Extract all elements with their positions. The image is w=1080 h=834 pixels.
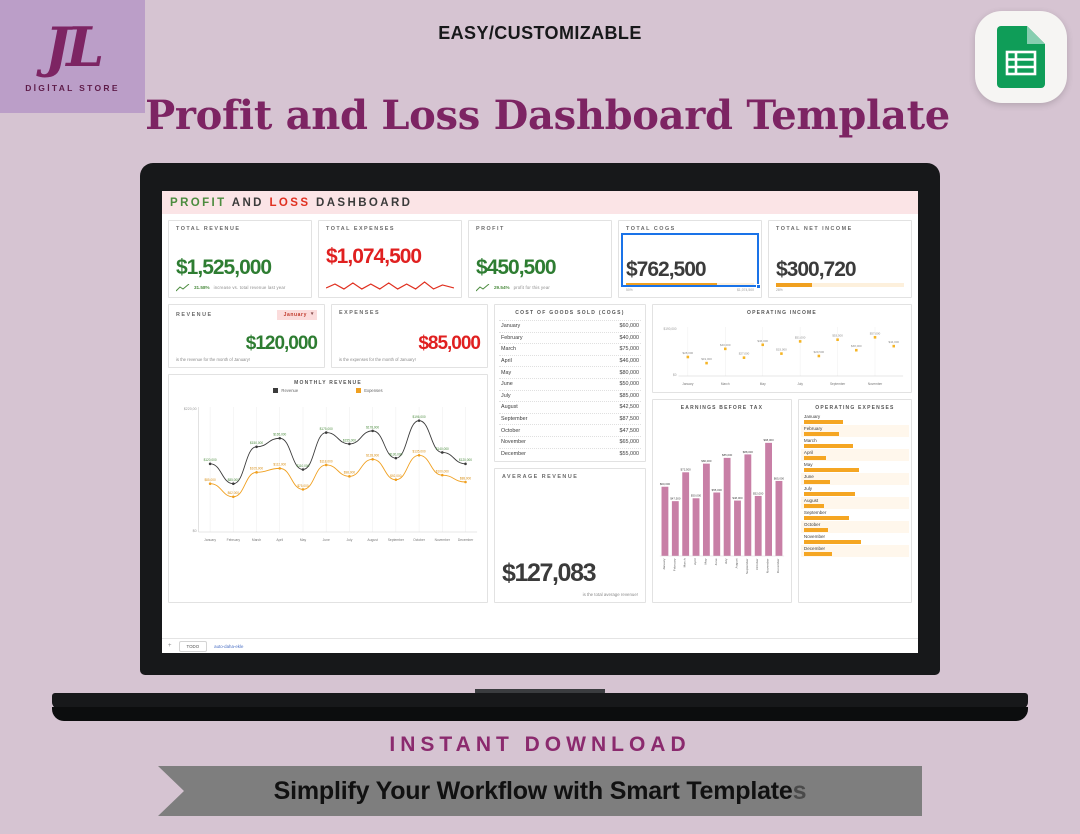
cogs-month: March — [501, 346, 516, 352]
kpi-footer: 31.58% increase vs. total revenue last y… — [176, 283, 304, 292]
cogs-value: $65,000 — [620, 439, 640, 445]
cogs-table-body: January$60,000February$40,000March$75,00… — [499, 320, 641, 459]
google-sheets-icon — [975, 11, 1067, 103]
cogs-month: May — [501, 370, 511, 376]
svg-text:$190,000: $190,000 — [664, 327, 677, 331]
svg-text:September: September — [388, 538, 405, 542]
instant-download-text: INSTANT DOWNLOAD — [0, 733, 1080, 757]
operating-expenses-panel[interactable]: OPERATING EXPENSES JanuaryFebruaryMarchA… — [798, 399, 912, 603]
table-row: May$80,000 — [499, 366, 641, 378]
svg-text:$178,000: $178,000 — [366, 425, 379, 429]
svg-text:$0: $0 — [673, 373, 677, 377]
table-row: October$47,500 — [499, 424, 641, 436]
oe-data-bar — [804, 480, 831, 484]
svg-text:$0: $0 — [193, 529, 197, 533]
oe-data-bar — [804, 444, 853, 448]
svg-text:$150,000: $150,000 — [250, 441, 263, 445]
spreadsheet-dashboard: PROFIT AND LOSS DASHBOARD TOTAL REVENUE … — [162, 191, 918, 653]
list-item: December — [801, 545, 909, 557]
svg-text:April: April — [276, 538, 283, 542]
expenses-card-header: EXPENSES — [339, 310, 480, 316]
oe-data-bar — [804, 456, 826, 460]
kpi-value: $762,500 — [626, 259, 754, 280]
kpi-card-profit[interactable]: PROFIT $450,500 29.54% profit for this y… — [468, 220, 612, 298]
svg-text:May: May — [760, 382, 766, 386]
table-row: August$42,500 — [499, 401, 641, 413]
chart-earnings-before-tax[interactable]: EARNINGS BEFORE TAX $60,000January$47,50… — [652, 399, 792, 603]
oe-month-label: August — [804, 498, 906, 503]
svg-text:$105,000: $105,000 — [250, 467, 263, 471]
ribbon-text: Simplify Your Workflow with Smart Templa… — [274, 777, 807, 806]
svg-text:January: January — [662, 558, 666, 570]
oe-data-bar — [804, 516, 849, 520]
oe-month-label: March — [804, 438, 906, 443]
svg-text:$29,500: $29,500 — [814, 350, 825, 354]
svg-text:$85,000: $85,000 — [722, 453, 733, 457]
svg-text:$100,000: $100,000 — [436, 470, 449, 474]
svg-text:November: November — [435, 538, 451, 542]
cogs-value: $46,000 — [620, 358, 640, 364]
chart-title: OPERATING INCOME — [657, 307, 907, 318]
oe-data-bar — [804, 504, 824, 508]
svg-text:June: June — [323, 538, 330, 542]
svg-text:February: February — [227, 538, 241, 542]
average-revenue-label: AVERAGE REVENUE — [502, 474, 638, 480]
table-row: June$50,000 — [499, 378, 641, 390]
svg-text:$155,000: $155,000 — [343, 438, 356, 442]
revenue-card-header: REVENUE January — [176, 310, 317, 320]
svg-text:August: August — [367, 538, 377, 542]
svg-text:$38,000: $38,000 — [851, 344, 862, 348]
svg-text:$44,000: $44,000 — [888, 340, 899, 344]
kpi-progress-labels: 50% $1,074,500 — [626, 288, 754, 292]
kpi-note: increase vs. total revenue last year — [214, 285, 286, 290]
cogs-month: December — [501, 451, 526, 457]
svg-text:$175,000: $175,000 — [320, 427, 333, 431]
tagline: EASY/CUSTOMIZABLE — [0, 23, 1080, 44]
chart-title: OPERATING EXPENSES — [801, 402, 909, 413]
oe-month-label: July — [804, 486, 906, 491]
revenue-value: $120,000 — [176, 334, 317, 353]
expenses-card-label: EXPENSES — [339, 310, 380, 316]
kpi-card-total-cogs[interactable]: TOTAL COGS $762,500 50% $1,074,500 — [618, 220, 762, 298]
svg-text:March: March — [721, 382, 730, 386]
svg-text:$118,000: $118,000 — [320, 459, 333, 463]
svg-text:July: July — [724, 558, 728, 564]
svg-text:October: October — [755, 559, 759, 570]
svg-text:$140,000: $140,000 — [436, 447, 449, 451]
svg-text:$220,00: $220,00 — [184, 407, 197, 411]
list-item: February — [801, 425, 909, 437]
laptop-mockup: PROFIT AND LOSS DASHBOARD TOTAL REVENUE … — [140, 163, 940, 675]
svg-text:$120,000: $120,000 — [459, 458, 472, 462]
svg-text:$57,000: $57,000 — [870, 331, 881, 335]
progress-right-label: $1,074,500 — [737, 288, 754, 292]
svg-text:$55,000: $55,000 — [712, 488, 723, 492]
svg-text:$112,000: $112,000 — [273, 463, 286, 467]
svg-text:March: March — [683, 558, 687, 567]
svg-text:$72,500: $72,500 — [681, 468, 692, 472]
list-item: January — [801, 413, 909, 425]
svg-text:$128,000: $128,000 — [366, 454, 379, 458]
progress-left-label: 50% — [626, 288, 633, 292]
table-row: March$75,000 — [499, 343, 641, 355]
table-row: December$55,000 — [499, 448, 641, 460]
svg-text:$92,000: $92,000 — [390, 474, 402, 478]
title-word-dashboard: DASHBOARD — [316, 197, 412, 209]
list-item: April — [801, 449, 909, 461]
average-revenue-note: is the total average revenue! — [502, 592, 638, 597]
list-item: March — [801, 437, 909, 449]
month-dropdown[interactable]: January — [277, 310, 317, 320]
kpi-label: TOTAL COGS — [626, 226, 754, 232]
kpi-note: profit for this year — [514, 285, 550, 290]
svg-text:September: September — [830, 382, 845, 386]
revenue-month-card[interactable]: REVENUE January $120,000 is the revenue … — [168, 304, 325, 368]
oe-month-label: June — [804, 474, 906, 479]
progress-left-label: 28% — [776, 288, 783, 292]
svg-text:$130,000: $130,000 — [389, 453, 402, 457]
kpi-progress-labels: 28% — [776, 288, 904, 292]
oe-month-label: January — [804, 414, 906, 419]
expenses-month-card[interactable]: EXPENSES $85,000 is the expenses for the… — [331, 304, 488, 368]
dashboard-title: PROFIT AND LOSS DASHBOARD — [162, 191, 918, 214]
cogs-table-title: COST OF GOODS SOLD (COGS) — [499, 307, 641, 320]
kpi-label: TOTAL NET INCOME — [776, 226, 904, 232]
kpi-value: $450,500 — [476, 257, 604, 278]
bottom-right-row: EARNINGS BEFORE TAX $60,000January$47,50… — [652, 399, 912, 603]
laptop-screen: PROFIT AND LOSS DASHBOARD TOTAL REVENUE … — [162, 191, 918, 653]
sparkline-up-icon — [176, 284, 190, 292]
kpi-percent: 29.54% — [494, 285, 510, 290]
svg-text:June: June — [714, 558, 718, 565]
list-item: July — [801, 485, 909, 497]
cogs-value: $42,500 — [620, 404, 640, 410]
list-item: May — [801, 461, 909, 473]
svg-text:$27,000: $27,000 — [739, 352, 750, 356]
svg-text:$85,000: $85,000 — [228, 478, 240, 482]
sheet-link[interactable]: auto-daha-ekle — [214, 644, 243, 649]
oe-month-label: December — [804, 546, 906, 551]
svg-text:$52,000: $52,000 — [753, 491, 764, 495]
svg-text:$120,000: $120,000 — [204, 458, 217, 462]
oe-data-bar — [804, 432, 839, 436]
kpi-label: TOTAL EXPENSES — [326, 226, 454, 232]
expenses-value: $85,000 — [339, 334, 480, 353]
kpi-progress-fill — [776, 283, 812, 287]
svg-text:$48,000: $48,000 — [732, 496, 743, 500]
svg-text:March: March — [252, 538, 261, 542]
average-revenue-card[interactable]: AVERAGE REVENUE $127,083 is the total av… — [494, 468, 646, 603]
svg-text:December: December — [458, 538, 474, 542]
ribbon-tail: s — [793, 777, 807, 805]
oe-month-label: November — [804, 534, 906, 539]
svg-text:$46,000: $46,000 — [757, 339, 768, 343]
kpi-label: TOTAL REVENUE — [176, 226, 304, 232]
svg-text:January: January — [682, 382, 694, 386]
chart-operating-income[interactable]: OPERATING INCOME $190,000$0$28,000$19,00… — [652, 304, 912, 393]
oe-data-bar — [804, 552, 833, 556]
cogs-value: $87,500 — [620, 416, 640, 422]
oe-data-bar — [804, 492, 855, 496]
cogs-value: $47,500 — [620, 428, 640, 434]
oe-data-bar — [804, 528, 829, 532]
kpi-value: $1,525,000 — [176, 257, 304, 278]
add-sheet-icon[interactable]: + — [168, 643, 172, 649]
laptop-base-lip — [52, 707, 1028, 721]
chart-title: EARNINGS BEFORE TAX — [656, 402, 788, 413]
svg-text:May: May — [300, 538, 307, 542]
page-title: Profit and Loss Dashboard Template — [145, 92, 950, 139]
svg-text:July: July — [346, 538, 352, 542]
svg-text:$110,000: $110,000 — [297, 464, 310, 468]
laptop-lid: PROFIT AND LOSS DASHBOARD TOTAL REVENUE … — [140, 163, 940, 675]
oe-month-label: October — [804, 522, 906, 527]
svg-text:$196,000: $196,000 — [413, 415, 426, 419]
kpi-progress-track — [776, 283, 904, 287]
svg-text:January: January — [204, 538, 216, 542]
chart-title: MONTHLY REVENUE — [173, 377, 483, 388]
table-row: January$60,000 — [499, 320, 641, 332]
cogs-value: $40,000 — [620, 335, 640, 341]
cogs-value: $75,000 — [620, 346, 640, 352]
svg-text:$88,000: $88,000 — [743, 450, 754, 454]
cogs-month: November — [501, 439, 526, 445]
oe-month-label: February — [804, 426, 906, 431]
svg-text:September: September — [745, 559, 749, 575]
table-row: February$40,000 — [499, 332, 641, 344]
cogs-table[interactable]: COST OF GOODS SOLD (COGS) January$60,000… — [494, 304, 646, 462]
brand-logo: JL DİGİTAL STORE — [0, 0, 145, 113]
monthly-revenue-plot: $220,00$0$120,000$85,000$150,000$165,000… — [173, 393, 483, 548]
operating-expenses-list: JanuaryFebruaryMarchAprilMayJuneJulyAugu… — [801, 413, 909, 557]
title-word-loss: LOSS — [269, 197, 310, 209]
cogs-value: $85,000 — [620, 393, 640, 399]
month-card-row: REVENUE January $120,000 is the revenue … — [168, 304, 488, 368]
cogs-month: October — [501, 428, 520, 434]
left-column: REVENUE January $120,000 is the revenue … — [168, 304, 488, 603]
svg-text:$62,000: $62,000 — [228, 491, 240, 495]
cogs-value: $60,000 — [620, 323, 640, 329]
svg-text:$75,000: $75,000 — [297, 484, 309, 488]
oe-data-bar — [804, 420, 843, 424]
sheet-tab-bar: + TODO auto-daha-ekle — [162, 638, 918, 653]
revenue-card-label: REVENUE — [176, 312, 213, 318]
footer-ribbon: Simplify Your Workflow with Smart Templa… — [158, 766, 922, 816]
kpi-row: TOTAL REVENUE $1,525,000 31.58% increase… — [168, 220, 912, 298]
table-row: April$46,000 — [499, 355, 641, 367]
cogs-month: July — [501, 393, 511, 399]
logo-subtitle: DİGİTAL STORE — [25, 83, 120, 93]
list-item: November — [801, 533, 909, 545]
svg-text:$60,000: $60,000 — [660, 482, 671, 486]
svg-text:July: July — [797, 382, 803, 386]
kpi-card-total-net-income[interactable]: TOTAL NET INCOME $300,720 28% — [768, 220, 912, 298]
svg-text:$85,000: $85,000 — [204, 478, 216, 482]
svg-text:$40,000: $40,000 — [720, 343, 731, 347]
list-item: October — [801, 521, 909, 533]
cogs-value: $50,000 — [620, 381, 640, 387]
svg-text:$53,500: $53,500 — [832, 334, 843, 338]
oe-month-label: September — [804, 510, 906, 515]
cogs-value: $55,000 — [620, 451, 640, 457]
kpi-card-total-expenses[interactable]: TOTAL EXPENSES $1,074,500 — [318, 220, 462, 298]
cogs-month: September — [501, 416, 527, 422]
sheet-tab[interactable]: TODO — [179, 641, 208, 652]
svg-text:$33,000: $33,000 — [776, 348, 787, 352]
svg-text:December: December — [776, 559, 780, 574]
cogs-value: $80,000 — [620, 370, 640, 376]
svg-text:February: February — [672, 558, 676, 571]
cell-selection-handle[interactable] — [756, 284, 761, 289]
sheets-glyph — [995, 26, 1047, 88]
cogs-month: August — [501, 404, 518, 410]
table-row: September$87,500 — [499, 413, 641, 425]
list-item: June — [801, 473, 909, 485]
cogs-month: February — [501, 335, 523, 341]
operating-income-plot: $190,000$0$28,000$19,000$40,000$27,000$4… — [657, 318, 907, 388]
revenue-note: is the revenue for the month of January! — [176, 357, 317, 362]
chart-monthly-revenue[interactable]: MONTHLY REVENUE Revenue Expenses $220,00… — [168, 374, 488, 603]
center-column: COST OF GOODS SOLD (COGS) January$60,000… — [494, 304, 646, 603]
svg-text:$50,000: $50,000 — [691, 494, 702, 498]
cogs-month: June — [501, 381, 513, 387]
average-revenue-value: $127,083 — [502, 561, 638, 586]
svg-text:$135,000: $135,000 — [413, 450, 426, 454]
ribbon-main: Simplify Your Workflow with Smart Templa… — [274, 777, 793, 805]
oe-month-label: April — [804, 450, 906, 455]
svg-text:$51,000: $51,000 — [795, 335, 806, 339]
svg-text:$47,500: $47,500 — [670, 496, 681, 500]
kpi-card-total-revenue[interactable]: TOTAL REVENUE $1,525,000 31.58% increase… — [168, 220, 312, 298]
oe-month-label: May — [804, 462, 906, 467]
svg-text:November: November — [868, 382, 882, 386]
expenses-note: is the expenses for the month of January… — [339, 357, 480, 362]
cogs-month: April — [501, 358, 512, 364]
table-row: July$85,000 — [499, 390, 641, 402]
svg-text:April: April — [693, 558, 697, 565]
sparkline-up-icon — [476, 284, 490, 292]
svg-text:$28,000: $28,000 — [683, 351, 694, 355]
zigzag-red-icon — [326, 280, 454, 292]
list-item: August — [801, 497, 909, 509]
table-row: November$65,000 — [499, 436, 641, 448]
svg-text:November: November — [766, 559, 770, 574]
kpi-percent: 31.58% — [194, 285, 210, 290]
svg-text:October: October — [413, 538, 426, 542]
svg-text:$165,000: $165,000 — [273, 433, 286, 437]
right-column: OPERATING INCOME $190,000$0$28,000$19,00… — [652, 304, 912, 603]
cogs-month: January — [501, 323, 520, 329]
svg-text:$80,000: $80,000 — [701, 459, 712, 463]
svg-text:May: May — [703, 558, 707, 564]
kpi-value: $1,074,500 — [326, 246, 454, 267]
svg-text:$19,000: $19,000 — [701, 357, 712, 361]
middle-row: REVENUE January $120,000 is the revenue … — [168, 304, 912, 603]
svg-text:$98,000: $98,000 — [763, 438, 774, 442]
svg-text:$98,000: $98,000 — [344, 471, 356, 475]
earnings-before-tax-plot: $60,000January$47,500February$72,500Marc… — [656, 413, 788, 598]
kpi-footer: 29.54% profit for this year — [476, 283, 604, 292]
title-word-and: AND — [232, 197, 264, 209]
list-item: September — [801, 509, 909, 521]
svg-text:$88,000: $88,000 — [460, 476, 472, 480]
kpi-label: PROFIT — [476, 226, 604, 232]
svg-text:August: August — [735, 558, 739, 568]
oe-data-bar — [804, 468, 859, 472]
oe-data-bar — [804, 540, 861, 544]
title-word-profit: PROFIT — [170, 197, 227, 209]
svg-text:$65,000: $65,000 — [774, 476, 785, 480]
kpi-value: $300,720 — [776, 259, 904, 280]
